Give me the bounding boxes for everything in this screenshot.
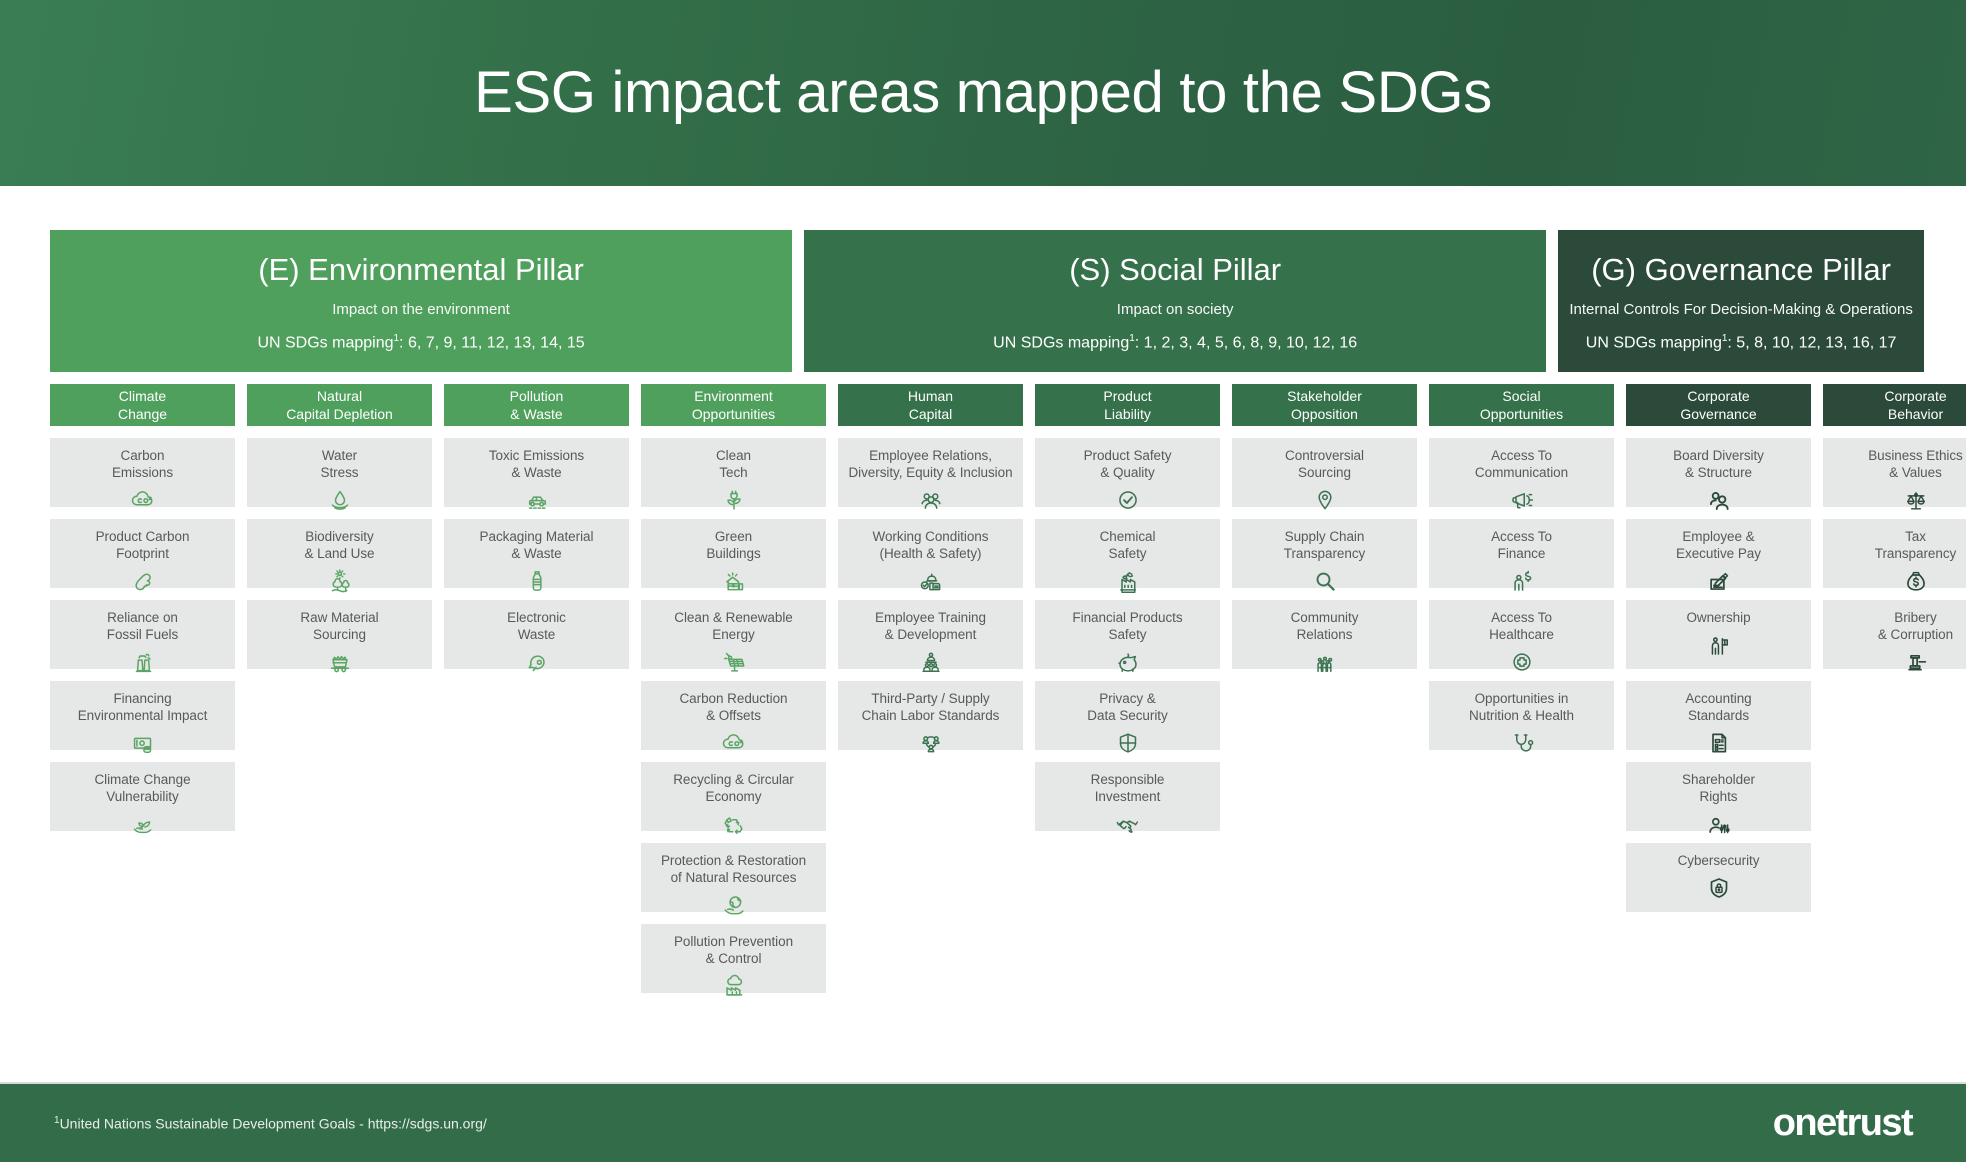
person-flag-icon — [1704, 630, 1734, 660]
category-header-line1: Product — [1103, 387, 1151, 405]
piggy-bank-icon — [1113, 647, 1143, 677]
impact-area-label-line2: Transparency — [1284, 545, 1365, 562]
impact-area-label-line1: Tax — [1875, 528, 1956, 545]
e-waste-icon — [522, 647, 552, 677]
impact-area-label-line1: Responsible — [1091, 771, 1165, 788]
impact-area-label-line1: Protection & Restoration — [661, 852, 806, 869]
impact-area-label: WaterStress — [321, 447, 359, 481]
impact-area-cell[interactable]: FinancingEnvironmental Impact — [50, 681, 235, 750]
water-droplet-icon — [325, 485, 355, 515]
impact-area-cell[interactable]: Employee Relations,Diversity, Equity & I… — [838, 438, 1023, 507]
impact-area-cell[interactable]: Opportunities inNutrition & Health — [1429, 681, 1614, 750]
impact-area-label-line2: & Structure — [1673, 464, 1764, 481]
impact-area-label-line2: & Quality — [1084, 464, 1172, 481]
impact-area-label-line1: Financing — [78, 690, 208, 707]
impact-area-label-line2: Emissions — [112, 464, 173, 481]
impact-area-cell[interactable]: CarbonEmissions — [50, 438, 235, 507]
impact-area-label-line2: Chain Labor Standards — [862, 707, 1000, 724]
page-title: ESG impact areas mapped to the SDGs — [474, 64, 1492, 122]
impact-area-label: Product CarbonFootprint — [96, 528, 190, 562]
impact-area-cell[interactable]: Working Conditions(Health & Safety) — [838, 519, 1023, 588]
category-header-line2: Opposition — [1291, 405, 1358, 423]
impact-area-label-line1: Product Safety — [1084, 447, 1172, 464]
impact-area-label-line1: Financial Products — [1072, 609, 1182, 626]
impact-area-cell[interactable]: Business Ethics& Values — [1823, 438, 1966, 507]
impact-area-label-line1: Supply Chain — [1284, 528, 1365, 545]
impact-area-label-line2: Communication — [1475, 464, 1568, 481]
impact-area-cell[interactable]: Board Diversity& Structure — [1626, 438, 1811, 507]
impact-area-label-line2: Buildings — [706, 545, 760, 562]
impact-area-label-line2: & Waste — [480, 545, 594, 562]
medical-cross-icon — [1507, 647, 1537, 677]
sdg-mapping-label: UN SDGs mapping — [257, 334, 393, 351]
document-list-icon — [1704, 728, 1734, 758]
impact-area-cell[interactable]: Supply ChainTransparency — [1232, 519, 1417, 588]
worker-helmet-icon — [916, 566, 946, 596]
impact-area-label-line1: Employee Training — [875, 609, 986, 626]
impact-area-label-line2: Data Security — [1087, 707, 1167, 724]
impact-area-label-line2: & Waste — [489, 464, 584, 481]
impact-area-label-line1: Community — [1291, 609, 1359, 626]
impact-area-label-line1: Electronic — [507, 609, 566, 626]
category-header-line2: Capital — [909, 405, 953, 423]
impact-area-label-line1: Privacy & — [1087, 690, 1167, 707]
category-header-line1: Climate — [119, 387, 166, 405]
impact-area-label: Protection & Restorationof Natural Resou… — [661, 852, 806, 886]
impact-area-label-line1: Ownership — [1686, 609, 1750, 626]
pillars-board: (E) Environmental PillarImpact on the en… — [50, 230, 1924, 993]
category-header[interactable]: NaturalCapital Depletion — [247, 384, 432, 426]
impact-area-label-line2: Finance — [1491, 545, 1552, 562]
impact-area-label-line1: Carbon — [112, 447, 173, 464]
pillar-sdg-mapping: UN SDGs mapping1: 6, 7, 9, 11, 12, 13, 1… — [257, 333, 584, 353]
impact-area-label-line1: Reliance on — [107, 609, 178, 626]
impact-area-cell[interactable]: Access ToHealthcare — [1429, 600, 1614, 669]
impact-area-label-line2: Economy — [673, 788, 794, 805]
page-header: ESG impact areas mapped to the SDGs — [0, 0, 1966, 186]
impact-area-cell[interactable]: Financial ProductsSafety — [1035, 600, 1220, 669]
impact-area-cell[interactable]: Recycling & CircularEconomy — [641, 762, 826, 831]
solar-house-icon — [719, 566, 749, 596]
impact-area-cell[interactable]: Packaging Material& Waste — [444, 519, 629, 588]
impact-area-label: CleanTech — [716, 447, 751, 481]
brand-logo: onetrust — [1773, 1102, 1912, 1145]
impact-area-label-line2: Relations — [1291, 626, 1359, 643]
pillar-columns-soc: HumanCapitalEmployee Relations,Diversity… — [838, 384, 1614, 831]
category-column: EnvironmentOpportunitiesCleanTechGreenBu… — [641, 384, 826, 993]
impact-area-label: Employee Relations,Diversity, Equity & I… — [848, 447, 1012, 481]
impact-area-label: Employee Training& Development — [875, 609, 986, 643]
impact-area-label: Toxic Emissions& Waste — [489, 447, 584, 481]
impact-area-cell[interactable]: ShareholderRights — [1626, 762, 1811, 831]
impact-area-label: Recycling & CircularEconomy — [673, 771, 794, 805]
page-footer: 1United Nations Sustainable Development … — [0, 1082, 1966, 1162]
category-header[interactable]: HumanCapital — [838, 384, 1023, 426]
impact-area-cell[interactable]: AccountingStandards — [1626, 681, 1811, 750]
pillar-columns-gov: CorporateGovernanceBoard Diversity& Stru… — [1626, 384, 1966, 912]
impact-area-label-line1: Shareholder — [1682, 771, 1755, 788]
cheque-pen-icon — [1704, 566, 1734, 596]
co2-cloud-icon — [719, 728, 749, 758]
impact-area-cell[interactable]: Employee Training& Development — [838, 600, 1023, 669]
impact-area-label-line2: Nutrition & Health — [1469, 707, 1574, 724]
impact-area-label-line2: Environmental Impact — [78, 707, 208, 724]
plug-plant-icon — [719, 485, 749, 515]
person-dollar-icon — [1507, 566, 1537, 596]
impact-area-label-line2: Safety — [1100, 545, 1156, 562]
impact-area-label-line2: Footprint — [96, 545, 190, 562]
impact-area-label: Board Diversity& Structure — [1673, 447, 1764, 481]
category-header[interactable]: EnvironmentOpportunities — [641, 384, 826, 426]
impact-area-cell[interactable]: WaterStress — [247, 438, 432, 507]
category-column: Pollution& WasteToxic Emissions& WastePa… — [444, 384, 629, 993]
category-header-line1: Natural — [317, 387, 362, 405]
impact-area-label-line1: Business Ethics — [1868, 447, 1963, 464]
map-pin-icon — [1310, 485, 1340, 515]
impact-area-label: CarbonEmissions — [112, 447, 173, 481]
impact-area-cell[interactable]: Pollution Prevention& Control — [641, 924, 826, 993]
impact-area-label-line2: (Health & Safety) — [873, 545, 989, 562]
green-factory-icon — [1113, 566, 1143, 596]
impact-area-label-line1: Toxic Emissions — [489, 447, 584, 464]
sdg-mapping-values: : 1, 2, 3, 4, 5, 6, 8, 9, 10, 12, 16 — [1135, 334, 1357, 351]
impact-area-label-line2: Stress — [321, 464, 359, 481]
category-column: ClimateChangeCarbonEmissionsProduct Carb… — [50, 384, 235, 993]
plastic-bottle-icon — [522, 566, 552, 596]
impact-area-label: ShareholderRights — [1682, 771, 1755, 805]
training-presentation-icon — [916, 647, 946, 677]
category-column: ProductLiabilityProduct Safety& QualityC… — [1035, 384, 1220, 831]
scales-icon — [1901, 485, 1931, 515]
category-column: CorporateGovernanceBoard Diversity& Stru… — [1626, 384, 1811, 912]
impact-area-label-line1: Carbon Reduction — [679, 690, 787, 707]
impact-area-label-line1: Access To — [1475, 447, 1568, 464]
person-sliders-icon — [1704, 809, 1734, 839]
impact-area-label: ControversialSourcing — [1285, 447, 1364, 481]
footprint-icon — [128, 566, 158, 596]
impact-area-label-line2: Standards — [1685, 707, 1751, 724]
impact-area-label-line2: Healthcare — [1489, 626, 1554, 643]
impact-area-label-line1: Biodiversity — [304, 528, 374, 545]
category-header[interactable]: StakeholderOpposition — [1232, 384, 1417, 426]
impact-area-label-line1: Controversial — [1285, 447, 1364, 464]
category-column: HumanCapitalEmployee Relations,Diversity… — [838, 384, 1023, 831]
impact-area-label-line2: Sourcing — [1285, 464, 1364, 481]
impact-area-cell[interactable]: Raw MaterialSourcing — [247, 600, 432, 669]
sdg-mapping-label: UN SDGs mapping — [1586, 334, 1722, 351]
impact-area-label-line1: Access To — [1489, 609, 1554, 626]
category-header[interactable]: SocialOpportunities — [1429, 384, 1614, 426]
impact-area-label-line1: Product Carbon — [96, 528, 190, 545]
impact-area-label: Supply ChainTransparency — [1284, 528, 1365, 562]
impact-area-label-line2: Rights — [1682, 788, 1755, 805]
impact-area-label: Business Ethics& Values — [1868, 447, 1963, 481]
impact-area-label-line1: Board Diversity — [1673, 447, 1764, 464]
trees-sun-icon — [325, 566, 355, 596]
impact-area-label-line1: Third-Party / Supply — [862, 690, 1000, 707]
impact-area-label: Biodiversity& Land Use — [304, 528, 374, 562]
impact-area-label-line1: Bribery — [1878, 609, 1953, 626]
category-header-line1: Corporate — [1687, 387, 1749, 405]
impact-area-label: Carbon Reduction& Offsets — [679, 690, 787, 724]
pillar-sdg-mapping: UN SDGs mapping1: 1, 2, 3, 4, 5, 6, 8, 9… — [993, 333, 1357, 353]
solar-panel-icon — [719, 647, 749, 677]
hand-globe-icon — [719, 890, 749, 920]
category-header-line1: Social — [1502, 387, 1540, 405]
impact-area-cell[interactable]: Employee &Executive Pay — [1626, 519, 1811, 588]
impact-area-label-line2: Energy — [674, 626, 792, 643]
impact-area-cell[interactable]: ElectronicWaste — [444, 600, 629, 669]
impact-area-cell[interactable]: CommunityRelations — [1232, 600, 1417, 669]
power-plant-icon — [128, 647, 158, 677]
community-crowd-icon — [1310, 647, 1340, 677]
impact-area-label: Working Conditions(Health & Safety) — [873, 528, 989, 562]
pillar-header-soc: (S) Social PillarImpact on societyUN SDG… — [804, 230, 1546, 372]
impact-area-cell[interactable]: Cybersecurity — [1626, 843, 1811, 912]
category-header-line2: & Waste — [510, 405, 562, 423]
impact-area-label-line2: & Land Use — [304, 545, 374, 562]
impact-area-label-line2: Vulnerability — [94, 788, 190, 805]
impact-area-label: ElectronicWaste — [507, 609, 566, 643]
impact-area-label: Product Safety& Quality — [1084, 447, 1172, 481]
impact-area-label: TaxTransparency — [1875, 528, 1956, 562]
impact-area-label-line1: Chemical — [1100, 528, 1156, 545]
impact-area-label-line1: Climate Change — [94, 771, 190, 788]
impact-area-label: ResponsibleInvestment — [1091, 771, 1165, 805]
shield-icon — [1113, 728, 1143, 758]
impact-area-label: Employee &Executive Pay — [1676, 528, 1761, 562]
category-column: NaturalCapital DepletionWaterStressBiodi… — [247, 384, 432, 993]
impact-area-label-line2: Sourcing — [300, 626, 378, 643]
impact-area-cell[interactable]: ControversialSourcing — [1232, 438, 1417, 507]
category-header[interactable]: ClimateChange — [50, 384, 235, 426]
car-emissions-icon — [522, 485, 552, 515]
money-bag-icon — [1901, 566, 1931, 596]
impact-area-label-line2: Tech — [716, 464, 751, 481]
impact-area-label: Clean & RenewableEnergy — [674, 609, 792, 643]
pillar-columns-env: ClimateChangeCarbonEmissionsProduct Carb… — [50, 384, 826, 993]
impact-area-cell[interactable]: Privacy &Data Security — [1035, 681, 1220, 750]
impact-area-label: Packaging Material& Waste — [480, 528, 594, 562]
impact-area-label: Pollution Prevention& Control — [674, 933, 793, 967]
impact-area-label-line2: of Natural Resources — [661, 869, 806, 886]
impact-area-label-line2: & Offsets — [679, 707, 787, 724]
impact-area-label: Opportunities inNutrition & Health — [1469, 690, 1574, 724]
pillar-header-gov: (G) Governance PillarInternal Controls F… — [1558, 230, 1924, 372]
impact-area-cell[interactable]: Carbon Reduction& Offsets — [641, 681, 826, 750]
impact-area-cell[interactable]: CleanTech — [641, 438, 826, 507]
stethoscope-icon — [1507, 728, 1537, 758]
sdg-mapping-label: UN SDGs mapping — [993, 334, 1129, 351]
sdg-mapping-values: : 6, 7, 9, 11, 12, 13, 14, 15 — [399, 334, 585, 351]
impact-area-cell[interactable]: Clean & RenewableEnergy — [641, 600, 826, 669]
impact-area-label: Raw MaterialSourcing — [300, 609, 378, 643]
impact-area-label-line2: Diversity, Equity & Inclusion — [848, 464, 1012, 481]
impact-area-cell[interactable]: Toxic Emissions& Waste — [444, 438, 629, 507]
pillar-subtitle: Internal Controls For Decision-Making & … — [1569, 301, 1912, 320]
impact-area-label: Financial ProductsSafety — [1072, 609, 1182, 643]
megaphone-icon — [1507, 485, 1537, 515]
category-header-line2: Opportunities — [692, 405, 775, 423]
pillar-name: (E) Environmental Pillar — [258, 253, 584, 287]
impact-area-label-line2: Transparency — [1875, 545, 1956, 562]
impact-area-label-line1: Opportunities in — [1469, 690, 1574, 707]
impact-area-label: Access ToFinance — [1491, 528, 1552, 562]
impact-area-label: GreenBuildings — [706, 528, 760, 562]
pillar-name: (G) Governance Pillar — [1591, 253, 1891, 287]
hand-sprout-icon — [128, 809, 158, 839]
impact-area-label-line1: Water — [321, 447, 359, 464]
category-header[interactable]: CorporateGovernance — [1626, 384, 1811, 426]
pillar-sdg-mapping: UN SDGs mapping1: 5, 8, 10, 12, 13, 16, … — [1586, 333, 1897, 353]
impact-area-cell[interactable]: ResponsibleInvestment — [1035, 762, 1220, 831]
impact-area-cell[interactable]: Bribery& Corruption — [1823, 600, 1966, 669]
impact-area-label-line1: Packaging Material — [480, 528, 594, 545]
impact-area-cell[interactable]: Access ToCommunication — [1429, 438, 1614, 507]
impact-area-label-line1: Working Conditions — [873, 528, 989, 545]
impact-area-cell[interactable]: ChemicalSafety — [1035, 519, 1220, 588]
recycling-icon — [719, 809, 749, 839]
category-header-line2: Governance — [1680, 405, 1756, 423]
impact-area-cell[interactable]: Reliance onFossil Fuels — [50, 600, 235, 669]
people-group-icon — [916, 485, 946, 515]
category-header-line1: Pollution — [510, 387, 564, 405]
magnifier-icon — [1310, 566, 1340, 596]
co2-cloud-icon — [128, 485, 158, 515]
impact-area-label: Climate ChangeVulnerability — [94, 771, 190, 805]
impact-area-label: CommunityRelations — [1291, 609, 1359, 643]
impact-area-label: Access ToHealthcare — [1489, 609, 1554, 643]
check-circle-icon — [1113, 485, 1143, 515]
impact-area-cell[interactable]: Protection & Restorationof Natural Resou… — [641, 843, 826, 912]
two-people-icon — [1704, 485, 1734, 515]
category-header[interactable]: ProductLiability — [1035, 384, 1220, 426]
category-header-line2: Capital Depletion — [286, 405, 393, 423]
category-column: SocialOpportunitiesAccess ToCommunicatio… — [1429, 384, 1614, 831]
category-header-line2: Liability — [1104, 405, 1151, 423]
category-header-line1: Environment — [694, 387, 773, 405]
impact-area-label: AccountingStandards — [1685, 690, 1751, 724]
impact-area-label: FinancingEnvironmental Impact — [78, 690, 208, 724]
impact-area-label-line1: Recycling & Circular — [673, 771, 794, 788]
impact-area-label: Ownership — [1686, 609, 1750, 626]
handshake-icon — [1113, 809, 1143, 839]
impact-area-label-line2: & Values — [1868, 464, 1963, 481]
impact-area-label: Privacy &Data Security — [1087, 690, 1167, 724]
impact-area-cell[interactable]: Product Safety& Quality — [1035, 438, 1220, 507]
pillar-columns-row: ClimateChangeCarbonEmissionsProduct Carb… — [50, 384, 1924, 993]
sdg-mapping-values: : 5, 8, 10, 12, 13, 16, 17 — [1727, 334, 1896, 351]
impact-area-label: ChemicalSafety — [1100, 528, 1156, 562]
impact-area-label-line2: & Corruption — [1878, 626, 1953, 643]
impact-area-cell[interactable]: Ownership — [1626, 600, 1811, 669]
pillar-header-row: (E) Environmental PillarImpact on the en… — [50, 230, 1924, 372]
impact-area-label-line1: Pollution Prevention — [674, 933, 793, 950]
footnote: 1United Nations Sustainable Development … — [54, 1115, 487, 1132]
impact-area-label-line2: Safety — [1072, 626, 1182, 643]
infographic-page: ESG impact areas mapped to the SDGs (E) … — [0, 0, 1966, 1162]
impact-area-cell[interactable]: Product CarbonFootprint — [50, 519, 235, 588]
category-header-line2: Change — [118, 405, 167, 423]
factory-cloud-icon — [719, 971, 749, 1001]
category-header-line1: Stakeholder — [1287, 387, 1362, 405]
impact-area-cell[interactable]: Biodiversity& Land Use — [247, 519, 432, 588]
people-network-icon — [916, 728, 946, 758]
impact-area-label: Reliance onFossil Fuels — [107, 609, 178, 643]
impact-area-label-line2: & Control — [674, 950, 793, 967]
impact-area-cell[interactable]: Third-Party / SupplyChain Labor Standard… — [838, 681, 1023, 750]
footnote-text: United Nations Sustainable Development G… — [60, 1115, 487, 1131]
impact-area-label-line2: Investment — [1091, 788, 1165, 805]
category-header-line2: Behavior — [1888, 405, 1943, 423]
pillar-subtitle: Impact on the environment — [332, 301, 510, 320]
pillar-header-env: (E) Environmental PillarImpact on the en… — [50, 230, 792, 372]
impact-area-label-line2: & Development — [875, 626, 986, 643]
impact-area-cell[interactable]: TaxTransparency — [1823, 519, 1966, 588]
impact-area-label-line1: Clean — [716, 447, 751, 464]
impact-area-label-line1: Raw Material — [300, 609, 378, 626]
impact-area-label-line1: Clean & Renewable — [674, 609, 792, 626]
impact-area-label: Cybersecurity — [1678, 852, 1760, 869]
category-column: CorporateBehaviorBusiness Ethics& Values… — [1823, 384, 1966, 912]
impact-area-cell[interactable]: Climate ChangeVulnerability — [50, 762, 235, 831]
banknote-coins-icon — [128, 728, 158, 758]
impact-area-label-line1: Employee Relations, — [848, 447, 1012, 464]
shield-lock-icon — [1704, 873, 1734, 903]
pillar-name: (S) Social Pillar — [1069, 253, 1281, 287]
impact-area-label-line1: Access To — [1491, 528, 1552, 545]
mining-cart-icon — [325, 647, 355, 677]
impact-area-label-line1: Employee & — [1676, 528, 1761, 545]
category-column: StakeholderOppositionControversialSourci… — [1232, 384, 1417, 831]
pillar-subtitle: Impact on society — [1117, 301, 1234, 320]
impact-area-label: Access ToCommunication — [1475, 447, 1568, 481]
category-header-line1: Corporate — [1884, 387, 1946, 405]
category-header[interactable]: CorporateBehavior — [1823, 384, 1966, 426]
impact-area-label: Bribery& Corruption — [1878, 609, 1953, 643]
category-header-line2: Opportunities — [1480, 405, 1563, 423]
impact-area-label-line2: Executive Pay — [1676, 545, 1761, 562]
impact-area-label-line2: Waste — [507, 626, 566, 643]
impact-area-label-line1: Green — [706, 528, 760, 545]
impact-area-label-line2: Fossil Fuels — [107, 626, 178, 643]
category-header-line1: Human — [908, 387, 953, 405]
impact-area-cell[interactable]: GreenBuildings — [641, 519, 826, 588]
category-header[interactable]: Pollution& Waste — [444, 384, 629, 426]
impact-area-cell[interactable]: Access ToFinance — [1429, 519, 1614, 588]
gavel-icon — [1901, 647, 1931, 677]
impact-area-label-line1: Cybersecurity — [1678, 852, 1760, 869]
impact-area-label: Third-Party / SupplyChain Labor Standard… — [862, 690, 1000, 724]
impact-area-label-line1: Accounting — [1685, 690, 1751, 707]
